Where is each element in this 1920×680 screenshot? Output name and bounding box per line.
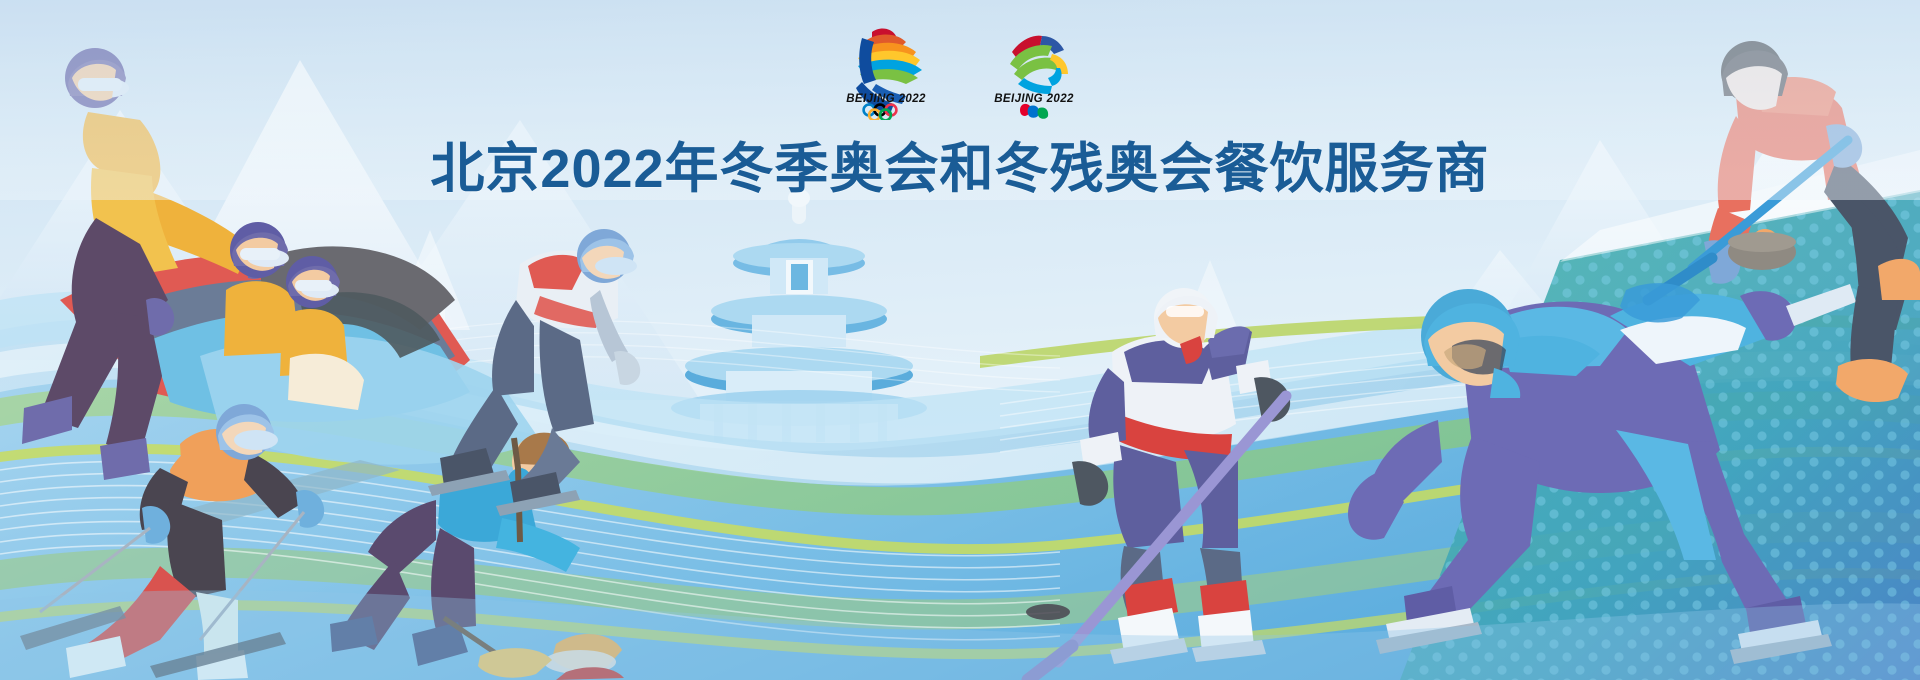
- emblem-row: BEIJING 2022: [0, 22, 1920, 120]
- page-title: 北京2022年冬季奥会和冬残奥会餐饮服务商: [0, 124, 1920, 203]
- agitos-icon: [1020, 104, 1048, 119]
- paralympic-emblem: BEIJING 2022: [984, 22, 1084, 120]
- paralympic-wordmark: BEIJING 2022: [994, 93, 1074, 105]
- olympic-emblem: BEIJING 2022: [836, 22, 936, 120]
- olympic-wordmark: BEIJING 2022: [846, 93, 926, 105]
- olympic-banner: BEIJING 2022: [0, 0, 1920, 680]
- paralympic-emblem-ribbon: [1010, 36, 1068, 94]
